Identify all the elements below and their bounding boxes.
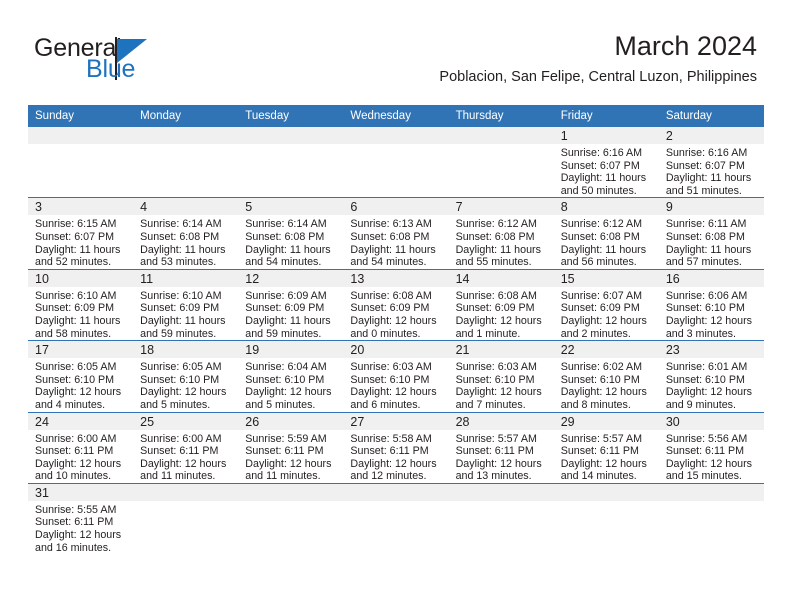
calendar-day-cell-empty: [659, 483, 764, 554]
day-detail-line: Sunset: 6:11 PM: [35, 445, 127, 458]
day-number-band: 5: [238, 198, 343, 215]
day-detail-line: Daylight: 12 hours: [140, 386, 232, 399]
day-cell-inner: 16Sunrise: 6:06 AMSunset: 6:10 PMDayligh…: [659, 270, 764, 340]
day-cell-inner: 11Sunrise: 6:10 AMSunset: 6:09 PMDayligh…: [133, 270, 238, 340]
calendar-day-cell[interactable]: 1Sunrise: 6:16 AMSunset: 6:07 PMDaylight…: [554, 127, 659, 198]
day-detail-line: Sunset: 6:11 PM: [140, 445, 232, 458]
day-number: 23: [666, 343, 680, 357]
day-cell-inner: 3Sunrise: 6:15 AMSunset: 6:07 PMDaylight…: [28, 198, 133, 268]
day-cell-inner: [659, 484, 764, 554]
day-cell-inner: 31Sunrise: 5:55 AMSunset: 6:11 PMDayligh…: [28, 484, 133, 554]
day-number-band: 26: [238, 413, 343, 430]
day-detail-line: Sunrise: 6:14 AM: [245, 218, 337, 231]
general-blue-logo[interactable]: General Blue: [34, 34, 214, 90]
day-detail-lines: Sunrise: 5:56 AMSunset: 6:11 PMDaylight:…: [659, 430, 764, 483]
day-detail-line: Sunset: 6:10 PM: [245, 374, 337, 387]
day-number: 18: [140, 343, 154, 357]
calendar-day-cell-empty: [449, 127, 554, 198]
day-detail-line: and 16 minutes.: [35, 542, 127, 555]
day-detail-line: Sunrise: 6:08 AM: [456, 290, 548, 303]
title-block: March 2024 Poblacion, San Felipe, Centra…: [439, 30, 757, 86]
day-number-band: 24: [28, 413, 133, 430]
day-detail-line: Sunset: 6:08 PM: [666, 231, 758, 244]
day-detail-line: Sunset: 6:10 PM: [350, 374, 442, 387]
day-detail-line: Daylight: 12 hours: [456, 315, 548, 328]
calendar-day-cell-empty: [133, 483, 238, 554]
day-detail-line: Sunrise: 6:00 AM: [35, 433, 127, 446]
day-number-band: [28, 127, 133, 144]
day-number-band: 11: [133, 270, 238, 287]
day-detail-line: Daylight: 11 hours: [245, 244, 337, 257]
day-number-band: 17: [28, 341, 133, 358]
day-detail-line: Sunset: 6:10 PM: [561, 374, 653, 387]
day-detail-line: and 52 minutes.: [35, 256, 127, 269]
calendar-day-cell[interactable]: 21Sunrise: 6:03 AMSunset: 6:10 PMDayligh…: [449, 341, 554, 412]
day-detail-line: Daylight: 12 hours: [666, 386, 758, 399]
calendar-day-cell[interactable]: 9Sunrise: 6:11 AMSunset: 6:08 PMDaylight…: [659, 198, 764, 269]
day-number: 5: [245, 200, 252, 214]
day-number: 2: [666, 129, 673, 143]
day-detail-lines: Sunrise: 6:12 AMSunset: 6:08 PMDaylight:…: [554, 215, 659, 268]
day-number-band: [659, 484, 764, 501]
day-detail-line: and 57 minutes.: [666, 256, 758, 269]
day-detail-line: Sunset: 6:11 PM: [456, 445, 548, 458]
day-number: 29: [561, 415, 575, 429]
day-detail-lines: Sunrise: 6:08 AMSunset: 6:09 PMDaylight:…: [449, 287, 554, 340]
calendar-day-cell-empty: [238, 483, 343, 554]
calendar-day-cell[interactable]: 11Sunrise: 6:10 AMSunset: 6:09 PMDayligh…: [133, 269, 238, 340]
day-number-band: 19: [238, 341, 343, 358]
day-cell-inner: 22Sunrise: 6:02 AMSunset: 6:10 PMDayligh…: [554, 341, 659, 411]
day-detail-line: Daylight: 11 hours: [666, 172, 758, 185]
day-cell-inner: 28Sunrise: 5:57 AMSunset: 6:11 PMDayligh…: [449, 413, 554, 483]
day-cell-inner: 30Sunrise: 5:56 AMSunset: 6:11 PMDayligh…: [659, 413, 764, 483]
day-number-band: [554, 484, 659, 501]
day-detail-line: Sunset: 6:08 PM: [350, 231, 442, 244]
day-detail-line: Sunset: 6:07 PM: [561, 160, 653, 173]
day-number: 8: [561, 200, 568, 214]
day-number-band: 27: [343, 413, 448, 430]
day-detail-lines: Sunrise: 6:07 AMSunset: 6:09 PMDaylight:…: [554, 287, 659, 340]
calendar-day-cell[interactable]: 20Sunrise: 6:03 AMSunset: 6:10 PMDayligh…: [343, 341, 448, 412]
day-detail-line: Sunrise: 6:13 AM: [350, 218, 442, 231]
day-detail-lines: Sunrise: 6:00 AMSunset: 6:11 PMDaylight:…: [28, 430, 133, 483]
day-detail-line: Daylight: 12 hours: [140, 458, 232, 471]
day-detail-lines: Sunrise: 6:14 AMSunset: 6:08 PMDaylight:…: [133, 215, 238, 268]
calendar-day-cell-empty: [238, 127, 343, 198]
day-detail-line: and 59 minutes.: [245, 328, 337, 341]
day-detail-line: Sunset: 6:10 PM: [456, 374, 548, 387]
calendar-day-cell-empty: [343, 483, 448, 554]
day-number-band: 4: [133, 198, 238, 215]
day-detail-line: and 51 minutes.: [666, 185, 758, 198]
day-detail-line: Sunrise: 6:12 AM: [456, 218, 548, 231]
day-detail-line: Daylight: 11 hours: [350, 244, 442, 257]
day-detail-line: Sunrise: 6:16 AM: [561, 147, 653, 160]
calendar-day-cell-empty: [554, 483, 659, 554]
day-detail-lines: Sunrise: 6:09 AMSunset: 6:09 PMDaylight:…: [238, 287, 343, 340]
day-cell-inner: 26Sunrise: 5:59 AMSunset: 6:11 PMDayligh…: [238, 413, 343, 483]
day-detail-line: and 58 minutes.: [35, 328, 127, 341]
day-cell-inner: 13Sunrise: 6:08 AMSunset: 6:09 PMDayligh…: [343, 270, 448, 340]
day-cell-inner: 15Sunrise: 6:07 AMSunset: 6:09 PMDayligh…: [554, 270, 659, 340]
calendar-day-cell[interactable]: 22Sunrise: 6:02 AMSunset: 6:10 PMDayligh…: [554, 341, 659, 412]
day-detail-lines: Sunrise: 6:10 AMSunset: 6:09 PMDaylight:…: [28, 287, 133, 340]
calendar-day-cell[interactable]: 23Sunrise: 6:01 AMSunset: 6:10 PMDayligh…: [659, 341, 764, 412]
day-number: 28: [456, 415, 470, 429]
day-number-band: 7: [449, 198, 554, 215]
day-detail-lines: Sunrise: 6:16 AMSunset: 6:07 PMDaylight:…: [554, 144, 659, 197]
calendar-day-cell[interactable]: 16Sunrise: 6:06 AMSunset: 6:10 PMDayligh…: [659, 269, 764, 340]
weekday-header-monday: Monday: [133, 105, 238, 127]
day-number-band: 23: [659, 341, 764, 358]
calendar-day-cell[interactable]: 25Sunrise: 6:00 AMSunset: 6:11 PMDayligh…: [133, 412, 238, 483]
day-detail-lines: Sunrise: 6:04 AMSunset: 6:10 PMDaylight:…: [238, 358, 343, 411]
calendar-day-cell[interactable]: 31Sunrise: 5:55 AMSunset: 6:11 PMDayligh…: [28, 483, 133, 554]
day-detail-lines: Sunrise: 6:05 AMSunset: 6:10 PMDaylight:…: [28, 358, 133, 411]
day-number: 25: [140, 415, 154, 429]
day-number-band: 15: [554, 270, 659, 287]
day-detail-line: and 0 minutes.: [350, 328, 442, 341]
day-number: 10: [35, 272, 49, 286]
day-cell-inner: 9Sunrise: 6:11 AMSunset: 6:08 PMDaylight…: [659, 198, 764, 268]
day-detail-line: Daylight: 12 hours: [350, 315, 442, 328]
calendar-day-cell[interactable]: 19Sunrise: 6:04 AMSunset: 6:10 PMDayligh…: [238, 341, 343, 412]
calendar-day-cell-empty: [343, 127, 448, 198]
day-detail-line: Sunrise: 5:59 AM: [245, 433, 337, 446]
day-detail-line: Sunset: 6:11 PM: [245, 445, 337, 458]
day-detail-lines: Sunrise: 6:02 AMSunset: 6:10 PMDaylight:…: [554, 358, 659, 411]
calendar-week-row: 3Sunrise: 6:15 AMSunset: 6:07 PMDaylight…: [28, 198, 764, 269]
day-detail-lines: Sunrise: 6:16 AMSunset: 6:07 PMDaylight:…: [659, 144, 764, 197]
day-number: 6: [350, 200, 357, 214]
day-detail-line: Sunset: 6:09 PM: [140, 302, 232, 315]
day-detail-line: and 55 minutes.: [456, 256, 548, 269]
day-detail-line: Sunrise: 6:00 AM: [140, 433, 232, 446]
day-cell-inner: [449, 127, 554, 197]
day-detail-line: Sunrise: 6:10 AM: [35, 290, 127, 303]
day-cell-inner: [238, 484, 343, 554]
calendar-grid: Sunday Monday Tuesday Wednesday Thursday…: [28, 105, 764, 554]
calendar-day-cell[interactable]: 26Sunrise: 5:59 AMSunset: 6:11 PMDayligh…: [238, 412, 343, 483]
day-detail-lines: Sunrise: 6:08 AMSunset: 6:09 PMDaylight:…: [343, 287, 448, 340]
day-detail-line: and 56 minutes.: [561, 256, 653, 269]
day-number-band: 31: [28, 484, 133, 501]
day-detail-line: Sunrise: 6:05 AM: [35, 361, 127, 374]
day-number: 7: [456, 200, 463, 214]
day-cell-inner: 29Sunrise: 5:57 AMSunset: 6:11 PMDayligh…: [554, 413, 659, 483]
day-number: 21: [456, 343, 470, 357]
day-detail-lines: Sunrise: 6:12 AMSunset: 6:08 PMDaylight:…: [449, 215, 554, 268]
day-number-band: 18: [133, 341, 238, 358]
day-number: 9: [666, 200, 673, 214]
day-detail-line: Daylight: 11 hours: [561, 172, 653, 185]
day-detail-line: Daylight: 12 hours: [456, 386, 548, 399]
day-detail-line: Sunrise: 6:01 AM: [666, 361, 758, 374]
day-detail-line: and 11 minutes.: [245, 470, 337, 483]
day-number-band: [238, 484, 343, 501]
day-cell-inner: 6Sunrise: 6:13 AMSunset: 6:08 PMDaylight…: [343, 198, 448, 268]
day-detail-line: Sunset: 6:10 PM: [666, 302, 758, 315]
day-detail-line: Daylight: 12 hours: [456, 458, 548, 471]
day-cell-inner: 23Sunrise: 6:01 AMSunset: 6:10 PMDayligh…: [659, 341, 764, 411]
day-cell-inner: 14Sunrise: 6:08 AMSunset: 6:09 PMDayligh…: [449, 270, 554, 340]
calendar-day-cell[interactable]: 12Sunrise: 6:09 AMSunset: 6:09 PMDayligh…: [238, 269, 343, 340]
day-detail-line: Sunrise: 6:10 AM: [140, 290, 232, 303]
calendar-day-cell[interactable]: 2Sunrise: 6:16 AMSunset: 6:07 PMDaylight…: [659, 127, 764, 198]
day-number-band: [449, 484, 554, 501]
day-detail-line: Sunset: 6:08 PM: [245, 231, 337, 244]
day-detail-line: Sunrise: 6:15 AM: [35, 218, 127, 231]
day-number: 3: [35, 200, 42, 214]
day-detail-lines: Sunrise: 6:00 AMSunset: 6:11 PMDaylight:…: [133, 430, 238, 483]
day-number: 22: [561, 343, 575, 357]
calendar-day-cell[interactable]: 27Sunrise: 5:58 AMSunset: 6:11 PMDayligh…: [343, 412, 448, 483]
day-detail-lines: Sunrise: 5:55 AMSunset: 6:11 PMDaylight:…: [28, 501, 133, 554]
day-cell-inner: [343, 484, 448, 554]
weekday-header-row: Sunday Monday Tuesday Wednesday Thursday…: [28, 105, 764, 127]
day-cell-inner: 7Sunrise: 6:12 AMSunset: 6:08 PMDaylight…: [449, 198, 554, 268]
day-cell-inner: [133, 127, 238, 197]
day-detail-lines: Sunrise: 6:13 AMSunset: 6:08 PMDaylight:…: [343, 215, 448, 268]
day-detail-line: Daylight: 12 hours: [666, 315, 758, 328]
day-number: 14: [456, 272, 470, 286]
day-cell-inner: 8Sunrise: 6:12 AMSunset: 6:08 PMDaylight…: [554, 198, 659, 268]
day-detail-lines: Sunrise: 6:14 AMSunset: 6:08 PMDaylight:…: [238, 215, 343, 268]
calendar-day-cell[interactable]: 28Sunrise: 5:57 AMSunset: 6:11 PMDayligh…: [449, 412, 554, 483]
day-cell-inner: 20Sunrise: 6:03 AMSunset: 6:10 PMDayligh…: [343, 341, 448, 411]
day-cell-inner: 19Sunrise: 6:04 AMSunset: 6:10 PMDayligh…: [238, 341, 343, 411]
day-detail-line: and 3 minutes.: [666, 328, 758, 341]
day-cell-inner: 1Sunrise: 6:16 AMSunset: 6:07 PMDaylight…: [554, 127, 659, 197]
day-number-band: 6: [343, 198, 448, 215]
day-cell-inner: [133, 484, 238, 554]
logo-text-blue: Blue: [86, 55, 135, 84]
day-detail-line: Sunset: 6:09 PM: [456, 302, 548, 315]
day-detail-line: Sunset: 6:07 PM: [35, 231, 127, 244]
day-cell-inner: [28, 127, 133, 197]
day-number-band: 14: [449, 270, 554, 287]
calendar-day-cell[interactable]: 10Sunrise: 6:10 AMSunset: 6:09 PMDayligh…: [28, 269, 133, 340]
day-detail-line: Daylight: 12 hours: [561, 386, 653, 399]
calendar-week-row: 24Sunrise: 6:00 AMSunset: 6:11 PMDayligh…: [28, 412, 764, 483]
day-detail-line: Sunrise: 5:58 AM: [350, 433, 442, 446]
calendar-day-cell[interactable]: 29Sunrise: 5:57 AMSunset: 6:11 PMDayligh…: [554, 412, 659, 483]
day-number-band: 9: [659, 198, 764, 215]
day-detail-line: Sunset: 6:11 PM: [561, 445, 653, 458]
day-number-band: 1: [554, 127, 659, 144]
day-detail-line: and 8 minutes.: [561, 399, 653, 412]
day-number-band: 3: [28, 198, 133, 215]
day-detail-line: Sunset: 6:08 PM: [456, 231, 548, 244]
day-number-band: 8: [554, 198, 659, 215]
calendar-day-cell[interactable]: 5Sunrise: 6:14 AMSunset: 6:08 PMDaylight…: [238, 198, 343, 269]
calendar-day-cell-empty: [449, 483, 554, 554]
day-detail-line: Sunset: 6:09 PM: [561, 302, 653, 315]
day-detail-line: Daylight: 11 hours: [245, 315, 337, 328]
day-detail-line: Sunset: 6:09 PM: [350, 302, 442, 315]
calendar-day-cell[interactable]: 3Sunrise: 6:15 AMSunset: 6:07 PMDaylight…: [28, 198, 133, 269]
day-detail-lines: Sunrise: 5:58 AMSunset: 6:11 PMDaylight:…: [343, 430, 448, 483]
day-detail-line: and 50 minutes.: [561, 185, 653, 198]
calendar-day-cell[interactable]: 17Sunrise: 6:05 AMSunset: 6:10 PMDayligh…: [28, 341, 133, 412]
calendar-week-row: 1Sunrise: 6:16 AMSunset: 6:07 PMDaylight…: [28, 127, 764, 198]
day-detail-lines: Sunrise: 5:57 AMSunset: 6:11 PMDaylight:…: [449, 430, 554, 483]
day-cell-inner: [554, 484, 659, 554]
weekday-header-saturday: Saturday: [659, 105, 764, 127]
day-cell-inner: 21Sunrise: 6:03 AMSunset: 6:10 PMDayligh…: [449, 341, 554, 411]
weekday-header-tuesday: Tuesday: [238, 105, 343, 127]
calendar-day-cell[interactable]: 6Sunrise: 6:13 AMSunset: 6:08 PMDaylight…: [343, 198, 448, 269]
day-detail-line: Daylight: 11 hours: [666, 244, 758, 257]
calendar-week-row: 17Sunrise: 6:05 AMSunset: 6:10 PMDayligh…: [28, 341, 764, 412]
weekday-header-thursday: Thursday: [449, 105, 554, 127]
day-number-band: [133, 484, 238, 501]
day-number: 12: [245, 272, 259, 286]
day-detail-lines: Sunrise: 5:57 AMSunset: 6:11 PMDaylight:…: [554, 430, 659, 483]
day-number-band: 29: [554, 413, 659, 430]
day-number: 27: [350, 415, 364, 429]
day-detail-line: Sunset: 6:11 PM: [350, 445, 442, 458]
day-cell-inner: [238, 127, 343, 197]
day-number-band: 13: [343, 270, 448, 287]
day-number-band: 10: [28, 270, 133, 287]
day-number: 4: [140, 200, 147, 214]
calendar-day-cell[interactable]: 8Sunrise: 6:12 AMSunset: 6:08 PMDaylight…: [554, 198, 659, 269]
day-detail-line: and 5 minutes.: [140, 399, 232, 412]
day-detail-line: Daylight: 11 hours: [456, 244, 548, 257]
day-number: 1: [561, 129, 568, 143]
day-number: 19: [245, 343, 259, 357]
day-number-band: 22: [554, 341, 659, 358]
day-detail-line: Daylight: 11 hours: [561, 244, 653, 257]
day-number-band: 2: [659, 127, 764, 144]
calendar-week-row: 10Sunrise: 6:10 AMSunset: 6:09 PMDayligh…: [28, 269, 764, 340]
day-detail-lines: Sunrise: 6:11 AMSunset: 6:08 PMDaylight:…: [659, 215, 764, 268]
day-detail-line: and 15 minutes.: [666, 470, 758, 483]
day-detail-line: Sunset: 6:10 PM: [666, 374, 758, 387]
calendar-day-cell-empty: [28, 127, 133, 198]
day-detail-lines: Sunrise: 6:03 AMSunset: 6:10 PMDaylight:…: [343, 358, 448, 411]
calendar-day-cell[interactable]: 4Sunrise: 6:14 AMSunset: 6:08 PMDaylight…: [133, 198, 238, 269]
day-detail-line: and 6 minutes.: [350, 399, 442, 412]
calendar-day-cell[interactable]: 14Sunrise: 6:08 AMSunset: 6:09 PMDayligh…: [449, 269, 554, 340]
day-number-band: [238, 127, 343, 144]
day-detail-line: and 14 minutes.: [561, 470, 653, 483]
day-detail-line: Daylight: 12 hours: [666, 458, 758, 471]
day-cell-inner: 24Sunrise: 6:00 AMSunset: 6:11 PMDayligh…: [28, 413, 133, 483]
day-detail-line: Sunrise: 6:16 AM: [666, 147, 758, 160]
calendar-day-cell[interactable]: 13Sunrise: 6:08 AMSunset: 6:09 PMDayligh…: [343, 269, 448, 340]
day-detail-lines: Sunrise: 6:01 AMSunset: 6:10 PMDaylight:…: [659, 358, 764, 411]
day-detail-line: Sunrise: 5:56 AM: [666, 433, 758, 446]
day-number-band: 12: [238, 270, 343, 287]
day-detail-line: and 1 minute.: [456, 328, 548, 341]
day-detail-lines: Sunrise: 5:59 AMSunset: 6:11 PMDaylight:…: [238, 430, 343, 483]
day-number: 11: [140, 272, 153, 286]
day-detail-line: Daylight: 12 hours: [35, 529, 127, 542]
day-number: 13: [350, 272, 364, 286]
day-cell-inner: 27Sunrise: 5:58 AMSunset: 6:11 PMDayligh…: [343, 413, 448, 483]
day-cell-inner: 2Sunrise: 6:16 AMSunset: 6:07 PMDaylight…: [659, 127, 764, 197]
day-number-band: 16: [659, 270, 764, 287]
calendar-week-row: 31Sunrise: 5:55 AMSunset: 6:11 PMDayligh…: [28, 483, 764, 554]
day-detail-line: Daylight: 11 hours: [35, 315, 127, 328]
day-detail-line: Sunrise: 6:03 AM: [456, 361, 548, 374]
day-detail-line: Sunrise: 6:05 AM: [140, 361, 232, 374]
day-number: 24: [35, 415, 49, 429]
day-detail-line: Sunrise: 5:57 AM: [456, 433, 548, 446]
day-detail-lines: Sunrise: 6:05 AMSunset: 6:10 PMDaylight:…: [133, 358, 238, 411]
day-detail-lines: Sunrise: 6:03 AMSunset: 6:10 PMDaylight:…: [449, 358, 554, 411]
day-detail-lines: Sunrise: 6:06 AMSunset: 6:10 PMDaylight:…: [659, 287, 764, 340]
day-detail-line: Sunrise: 6:03 AM: [350, 361, 442, 374]
day-detail-line: Sunrise: 6:09 AM: [245, 290, 337, 303]
calendar-page: General Blue March 2024 Poblacion, San F…: [0, 0, 792, 612]
calendar-day-cell[interactable]: 30Sunrise: 5:56 AMSunset: 6:11 PMDayligh…: [659, 412, 764, 483]
day-detail-line: and 54 minutes.: [245, 256, 337, 269]
day-detail-line: Daylight: 11 hours: [35, 244, 127, 257]
calendar-day-cell[interactable]: 24Sunrise: 6:00 AMSunset: 6:11 PMDayligh…: [28, 412, 133, 483]
day-detail-line: Daylight: 12 hours: [35, 386, 127, 399]
day-detail-line: Daylight: 12 hours: [561, 315, 653, 328]
day-detail-line: and 5 minutes.: [245, 399, 337, 412]
day-detail-line: Sunset: 6:11 PM: [35, 516, 127, 529]
day-cell-inner: 4Sunrise: 6:14 AMSunset: 6:08 PMDaylight…: [133, 198, 238, 268]
day-number-band: [133, 127, 238, 144]
day-number: 15: [561, 272, 575, 286]
day-number-band: [343, 484, 448, 501]
day-detail-line: Sunset: 6:09 PM: [245, 302, 337, 315]
day-detail-line: Sunrise: 6:06 AM: [666, 290, 758, 303]
day-detail-line: and 4 minutes.: [35, 399, 127, 412]
day-number: 16: [666, 272, 680, 286]
weekday-header-sunday: Sunday: [28, 105, 133, 127]
day-detail-line: Sunset: 6:09 PM: [35, 302, 127, 315]
day-detail-line: Sunrise: 6:08 AM: [350, 290, 442, 303]
day-detail-line: Daylight: 12 hours: [350, 458, 442, 471]
day-number: 20: [350, 343, 364, 357]
day-detail-line: Daylight: 12 hours: [561, 458, 653, 471]
day-cell-inner: 17Sunrise: 6:05 AMSunset: 6:10 PMDayligh…: [28, 341, 133, 411]
day-cell-inner: 5Sunrise: 6:14 AMSunset: 6:08 PMDaylight…: [238, 198, 343, 268]
day-cell-inner: [343, 127, 448, 197]
day-detail-line: Sunrise: 6:02 AM: [561, 361, 653, 374]
day-number: 31: [35, 486, 49, 500]
day-detail-line: Sunset: 6:10 PM: [35, 374, 127, 387]
calendar-day-cell[interactable]: 15Sunrise: 6:07 AMSunset: 6:09 PMDayligh…: [554, 269, 659, 340]
day-detail-line: Daylight: 12 hours: [350, 386, 442, 399]
day-detail-line: Daylight: 11 hours: [140, 244, 232, 257]
weekday-header-friday: Friday: [554, 105, 659, 127]
day-number-band: 25: [133, 413, 238, 430]
calendar-body: 1Sunrise: 6:16 AMSunset: 6:07 PMDaylight…: [28, 127, 764, 554]
day-detail-line: Daylight: 12 hours: [35, 458, 127, 471]
day-detail-line: Sunrise: 6:12 AM: [561, 218, 653, 231]
day-detail-line: Sunrise: 5:57 AM: [561, 433, 653, 446]
day-number: 26: [245, 415, 259, 429]
weekday-header-wednesday: Wednesday: [343, 105, 448, 127]
calendar-day-cell[interactable]: 7Sunrise: 6:12 AMSunset: 6:08 PMDaylight…: [449, 198, 554, 269]
day-detail-line: Daylight: 12 hours: [245, 386, 337, 399]
day-detail-line: Sunrise: 6:14 AM: [140, 218, 232, 231]
day-detail-lines: Sunrise: 6:10 AMSunset: 6:09 PMDaylight:…: [133, 287, 238, 340]
calendar-day-cell[interactable]: 18Sunrise: 6:05 AMSunset: 6:10 PMDayligh…: [133, 341, 238, 412]
day-cell-inner: 10Sunrise: 6:10 AMSunset: 6:09 PMDayligh…: [28, 270, 133, 340]
day-number-band: 21: [449, 341, 554, 358]
day-cell-inner: 18Sunrise: 6:05 AMSunset: 6:10 PMDayligh…: [133, 341, 238, 411]
day-number-band: 28: [449, 413, 554, 430]
